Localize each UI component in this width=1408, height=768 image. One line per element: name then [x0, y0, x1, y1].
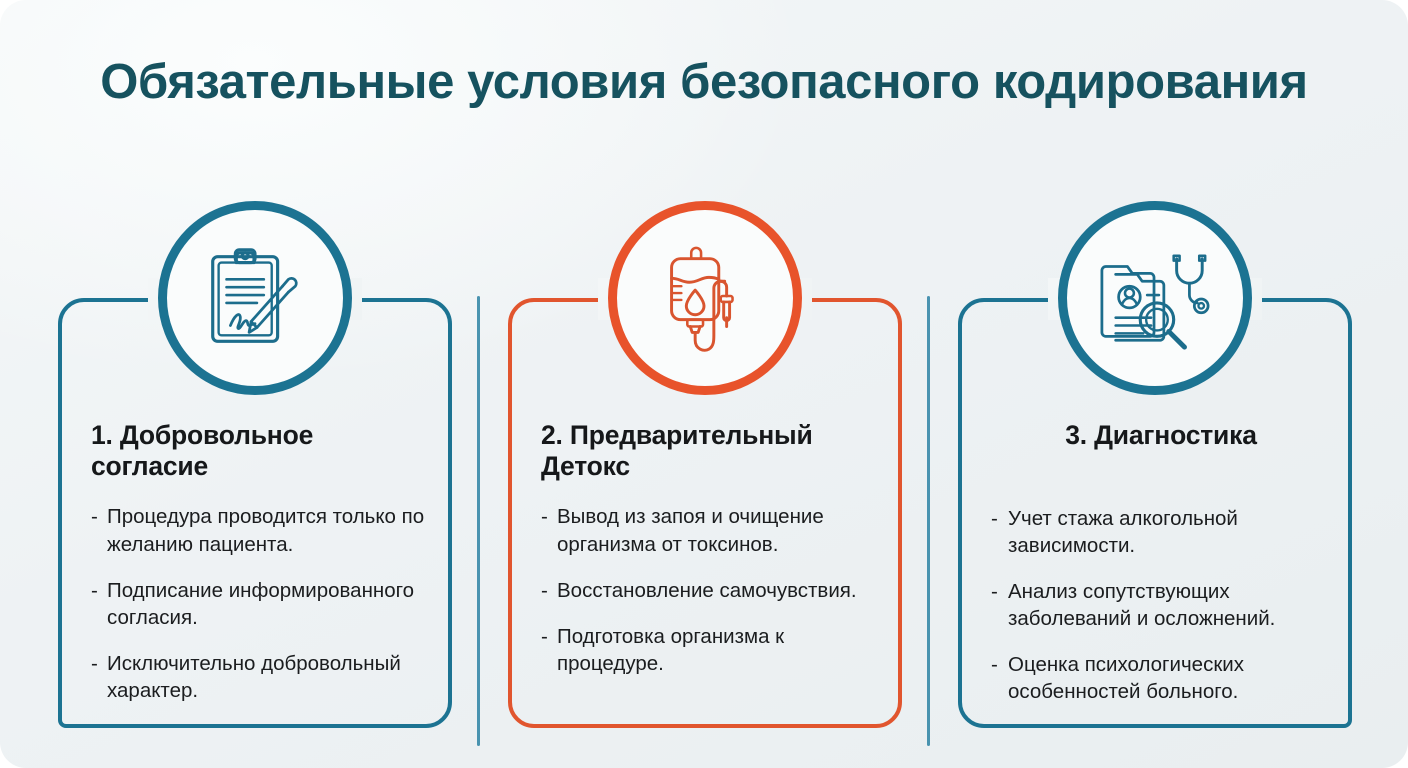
card-1-body: 1. Добровольное согласие -Процедура пров…: [69, 420, 441, 704]
card-3-heading: 3. Диагностика: [991, 420, 1331, 451]
card-3-icon-circle: [1058, 201, 1252, 395]
card-2-body: 2. Предварительный Детокс -Вывод из запо…: [519, 420, 891, 677]
card-1-icon-circle: [158, 201, 352, 395]
bullet-dash: -: [991, 505, 998, 532]
clipboard-signature-icon: [196, 239, 314, 357]
list-item-text: Анализ сопутствующих заболеваний и ослож…: [1008, 580, 1275, 630]
list-item: -Подписание информированного согласия.: [91, 577, 431, 631]
card-2-bullet-list: -Вывод из запоя и очищение организма от …: [541, 503, 881, 676]
column-divider-2: [927, 296, 930, 746]
card-1-bullet-list: -Процедура проводится только по желанию …: [91, 503, 431, 703]
list-item-text: Процедура проводится только по желанию п…: [107, 505, 424, 555]
list-item: -Процедура проводится только по желанию …: [91, 503, 431, 557]
bullet-dash: -: [91, 577, 98, 604]
bullet-dash: -: [541, 577, 548, 604]
card-2-icon-circle: [608, 201, 802, 395]
bullet-dash: -: [991, 578, 998, 605]
list-item-text: Вывод из запоя и очищение организма от т…: [557, 505, 824, 555]
card-3-bullet-list: -Учет стажа алкогольной зависимости. -Ан…: [991, 505, 1331, 705]
list-item: -Исключительно добровольный характер.: [91, 650, 431, 704]
list-item: -Подготовка организма к процедуре.: [541, 623, 881, 677]
patient-file-diagnosis-icon: [1096, 239, 1214, 357]
list-item: -Восстановление самочувствия.: [541, 577, 881, 604]
list-item-text: Подготовка организма к процедуре.: [557, 625, 784, 675]
card-1-heading: 1. Добровольное согласие: [91, 420, 431, 481]
list-item: -Вывод из запоя и очищение организма от …: [541, 503, 881, 557]
bullet-dash: -: [541, 623, 548, 650]
card-3-body: 3. Диагностика -Учет стажа алкогольной з…: [969, 420, 1341, 705]
bullet-dash: -: [991, 651, 998, 678]
columns-container: 1. Добровольное согласие -Процедура пров…: [0, 0, 1408, 768]
column-divider-1: [477, 296, 480, 746]
list-item-text: Оценка психологических особенностей боль…: [1008, 653, 1244, 703]
list-item: -Учет стажа алкогольной зависимости.: [991, 505, 1331, 559]
iv-drip-bag-icon: [646, 239, 764, 357]
bullet-dash: -: [541, 503, 548, 530]
list-item-text: Восстановление самочувствия.: [557, 579, 857, 602]
infographic-poster: Обязательные условия безопасного кодиров…: [0, 0, 1408, 768]
bullet-dash: -: [91, 503, 98, 530]
list-item: -Оценка психологических особенностей бол…: [991, 651, 1331, 705]
list-item-text: Подписание информированного согласия.: [107, 579, 414, 629]
list-item-text: Учет стажа алкогольной зависимости.: [1008, 507, 1238, 557]
bullet-dash: -: [91, 650, 98, 677]
card-2-heading: 2. Предварительный Детокс: [541, 420, 881, 481]
list-item: -Анализ сопутствующих заболеваний и осло…: [991, 578, 1331, 632]
list-item-text: Исключительно добровольный характер.: [107, 652, 401, 702]
